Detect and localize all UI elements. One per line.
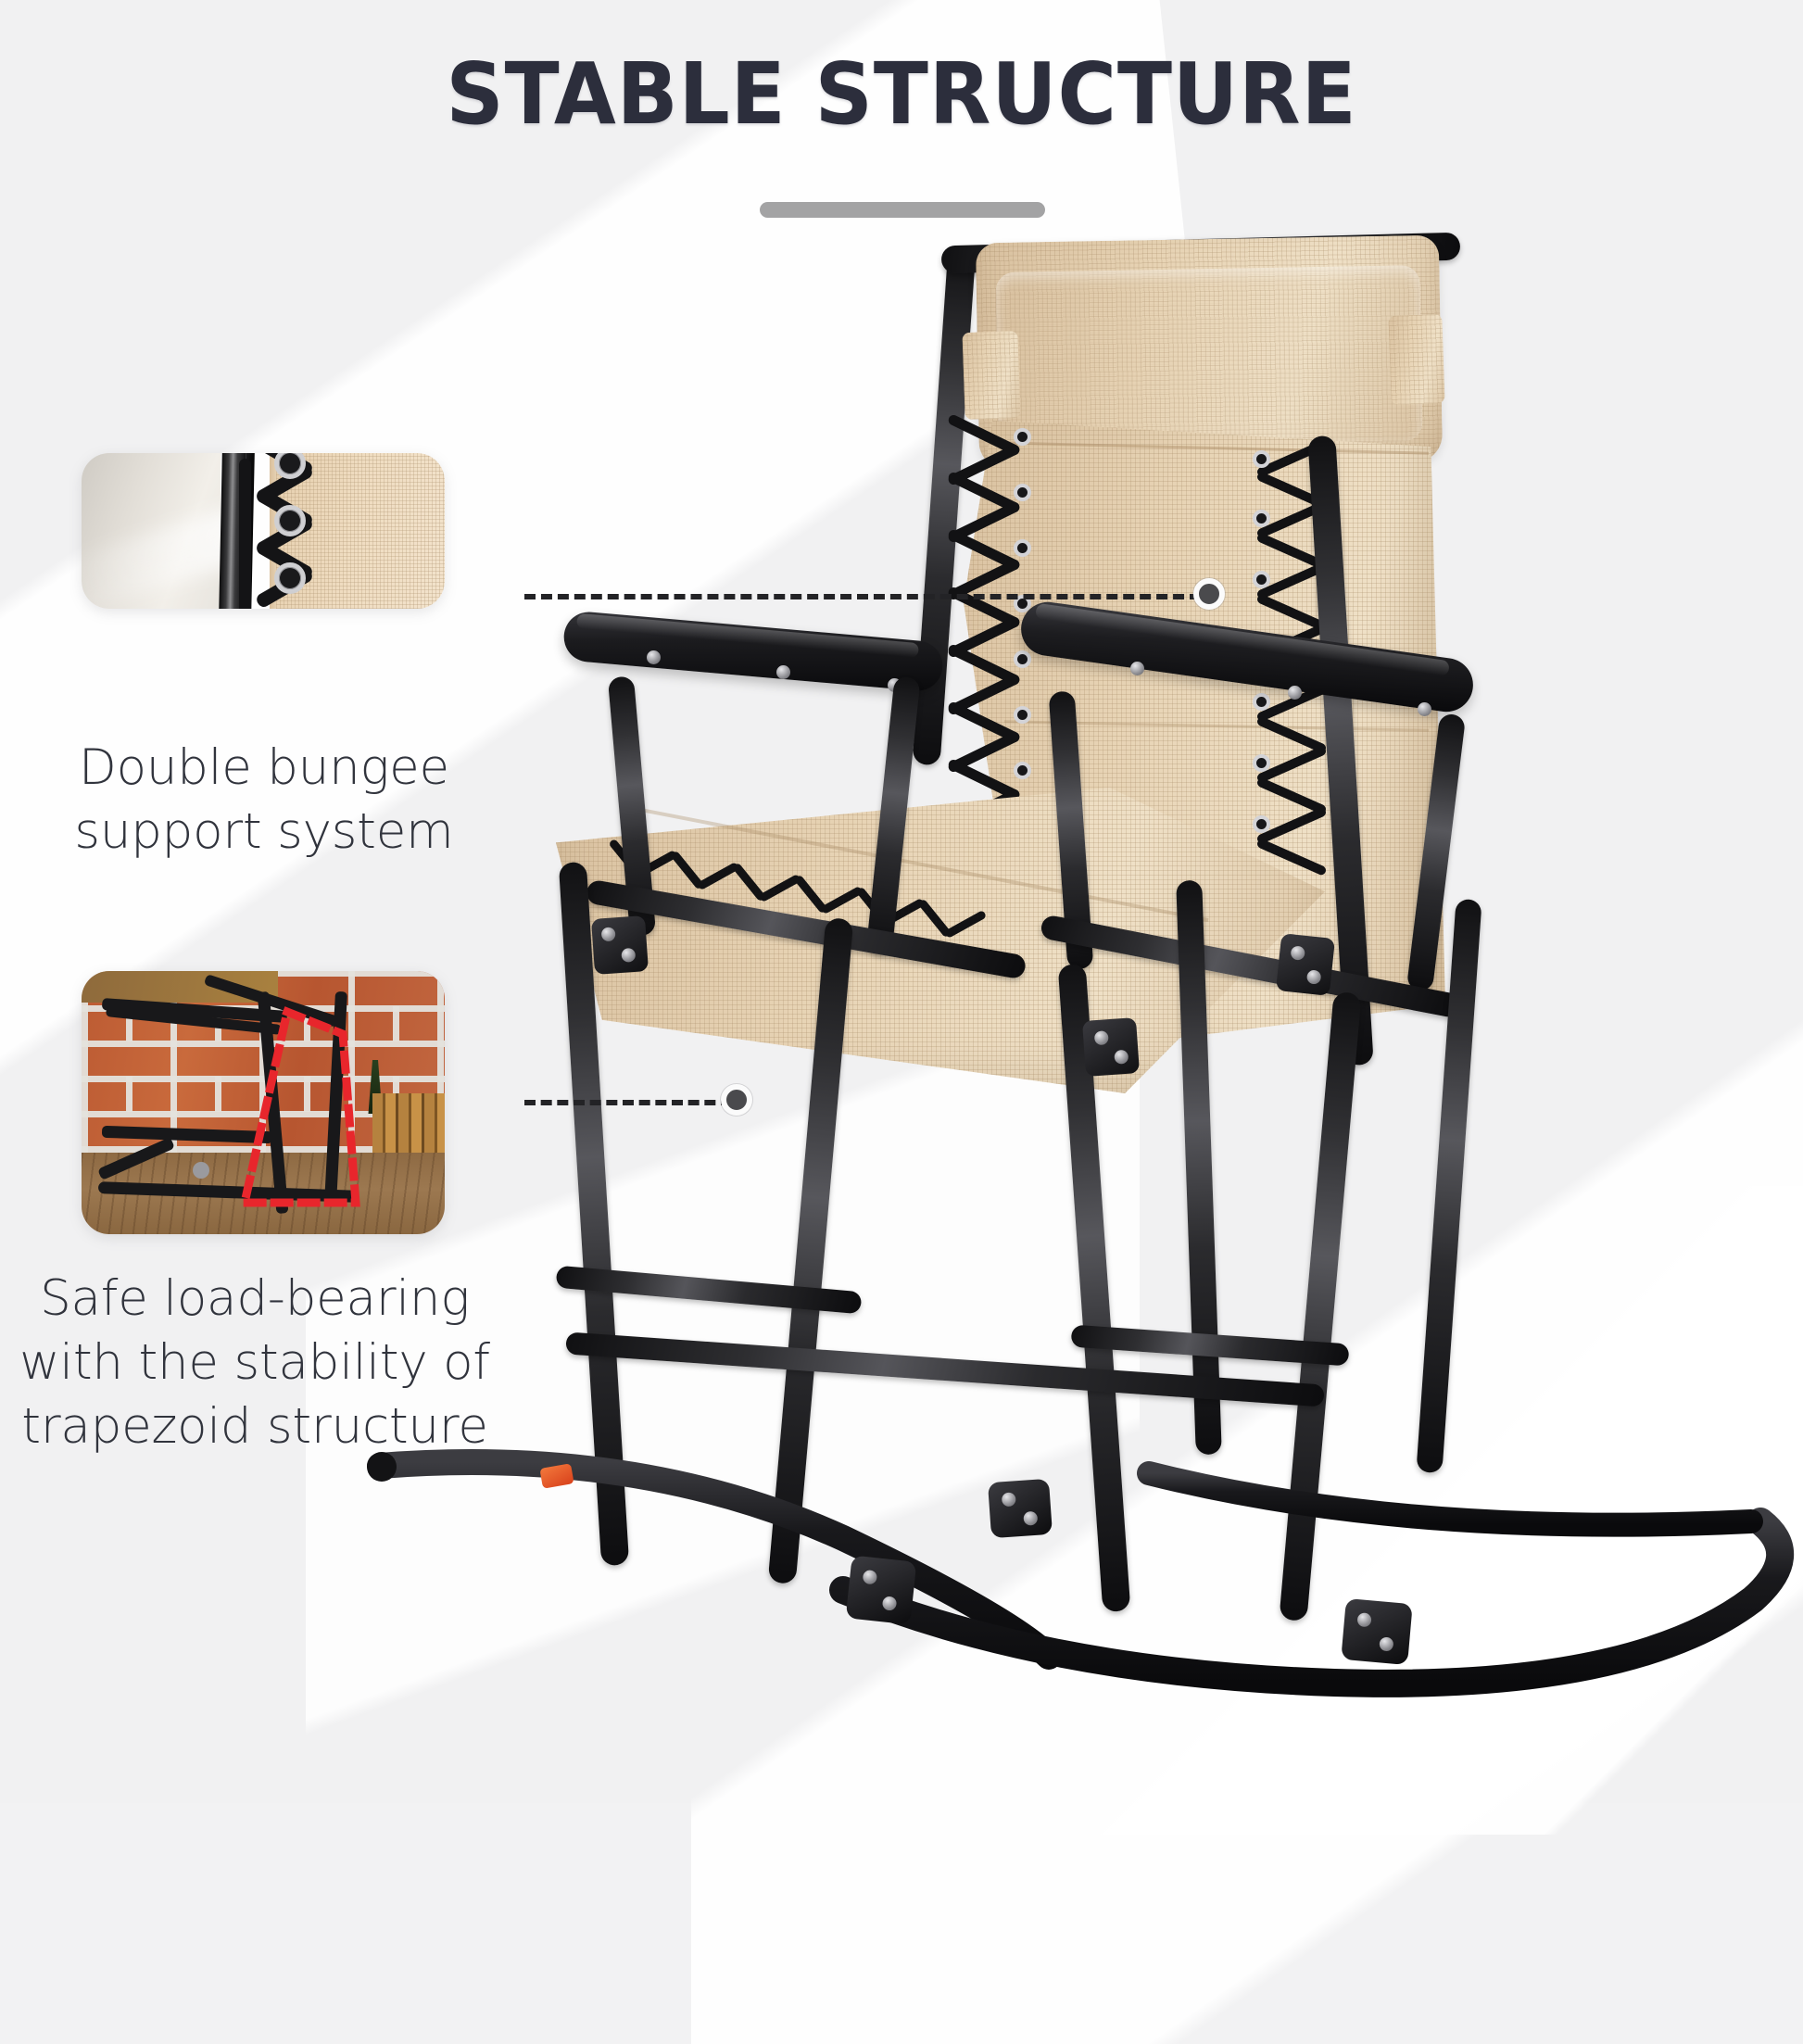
product-image-folding-rocking-chair bbox=[445, 213, 1803, 1803]
callout-endpoint-dot-bungee bbox=[1193, 578, 1225, 610]
caption-bungee-support: Double bungee support system bbox=[37, 737, 491, 864]
inset-background-wall bbox=[82, 453, 221, 609]
chair-rocker-rail-rear bbox=[815, 1418, 1803, 1723]
page-title: STABLE STRUCTURE bbox=[54, 44, 1748, 144]
callout-dashed-line-trapezoid bbox=[524, 1100, 732, 1105]
chair-right-armrest bbox=[1019, 610, 1482, 776]
callout-endpoint-dot-trapezoid bbox=[721, 1084, 752, 1116]
inset-photo-bungee-lacing bbox=[82, 453, 445, 609]
caption-trapezoid-structure: Safe load-bearing with the stability of … bbox=[9, 1268, 500, 1459]
callout-dashed-line-bungee bbox=[524, 594, 1201, 599]
inset-photo-trapezoid-structure bbox=[82, 971, 445, 1234]
